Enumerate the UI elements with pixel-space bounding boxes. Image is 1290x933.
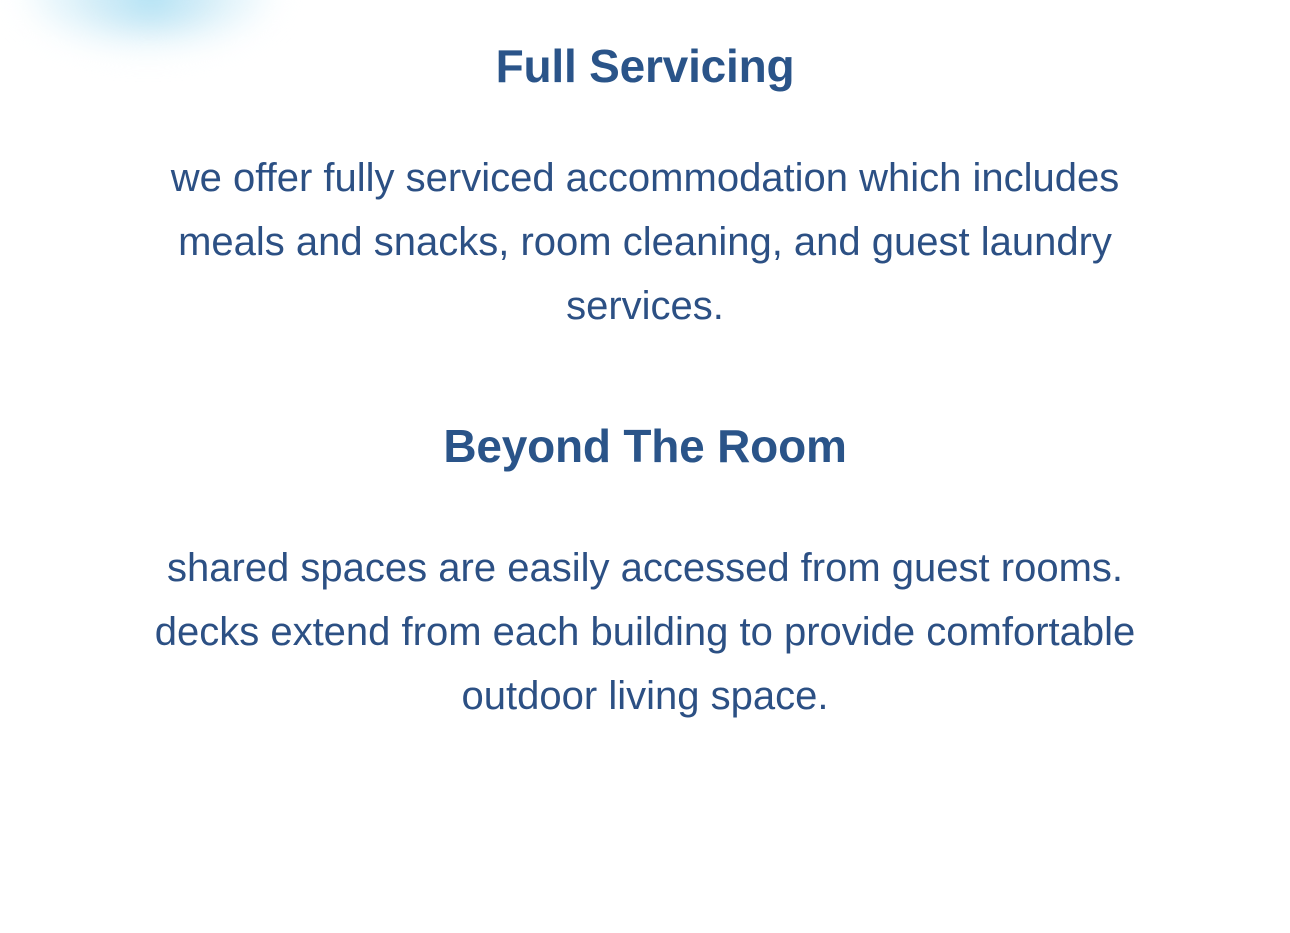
page-root: Full Servicing we offer fully serviced a…: [0, 0, 1290, 933]
section-body-beyond-the-room: shared spaces are easily accessed from g…: [135, 536, 1155, 728]
section-heading-full-servicing: Full Servicing: [0, 38, 1290, 94]
section-body-full-servicing: we offer fully serviced accommodation wh…: [135, 146, 1155, 338]
content-column: Full Servicing we offer fully serviced a…: [0, 0, 1290, 728]
section-heading-beyond-the-room: Beyond The Room: [0, 418, 1290, 474]
